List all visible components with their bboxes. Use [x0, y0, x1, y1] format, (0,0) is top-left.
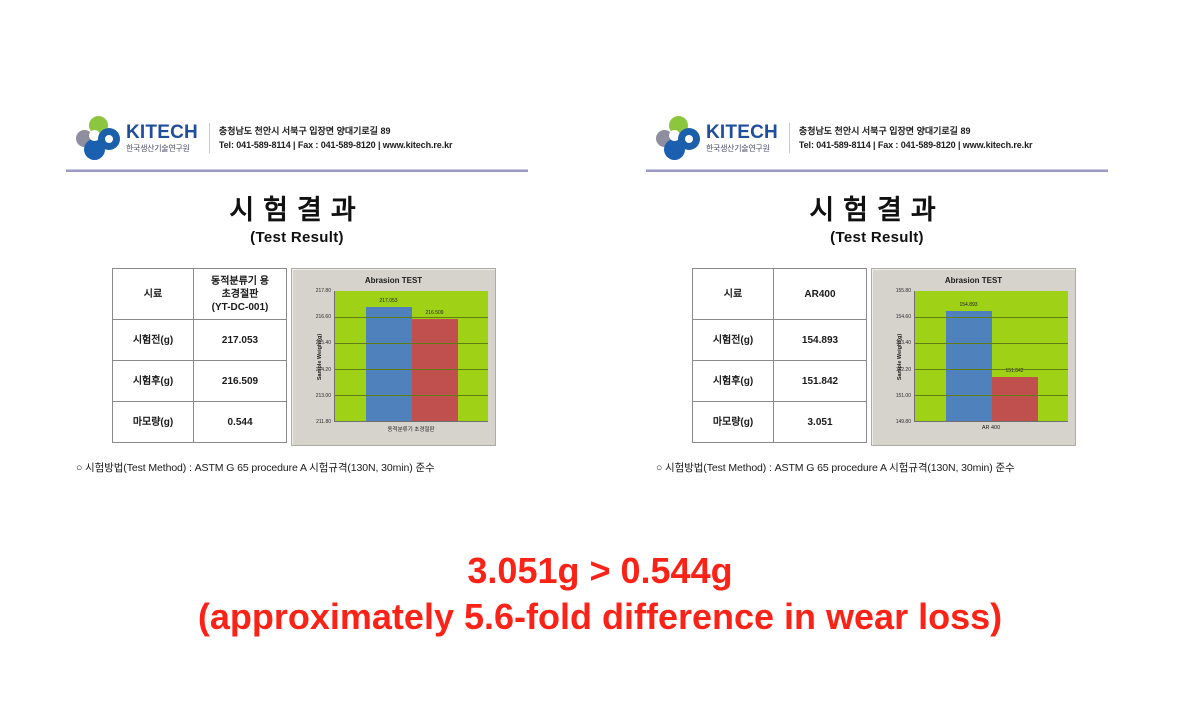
abrasion-chart-right: Abrasion TEST Sample Weight(g) 155.80154…	[871, 268, 1076, 446]
row-label: 시험전(g)	[113, 320, 194, 361]
row-value: 154.893	[774, 320, 867, 361]
row-value: 동적분류기 용초경절판(YT-DC-001)	[194, 269, 287, 320]
result-table-body: 시료 동적분류기 용초경절판(YT-DC-001) 시험전(g) 217.053…	[113, 269, 287, 443]
result-table: 시료 AR400 시험전(g) 154.893 시험후(g) 151.842 마…	[692, 268, 867, 443]
kitech-logo-icon	[76, 116, 122, 160]
title-block: 시험결과 (Test Result)	[62, 194, 532, 246]
y-tick-label: 216.60	[316, 314, 331, 320]
chart-gridline	[915, 343, 1068, 344]
y-tick-label: 153.40	[896, 340, 911, 346]
letterhead: KITECH 한국생산기술연구원 충청남도 천안시 서북구 입장면 양대기로길 …	[642, 112, 1112, 164]
chart-title: Abrasion TEST	[292, 276, 495, 285]
row-value: 0.544	[194, 402, 287, 443]
chart-x-label: AR 400	[914, 425, 1068, 431]
slide-canvas: KITECH 한국생산기술연구원 충청남도 천안시 서북구 입장면 양대기로길 …	[0, 0, 1200, 705]
letterhead: KITECH 한국생산기술연구원 충청남도 천안시 서북구 입장면 양대기로길 …	[62, 112, 532, 164]
bar-data-label: 154.893	[959, 302, 977, 308]
caption-line-1: 3.051g > 0.544g	[0, 548, 1200, 594]
row-value: 216.509	[194, 361, 287, 402]
test-method-footnote: ○ 시험방법(Test Method) : ASTM G 65 procedur…	[642, 460, 1112, 475]
page-title-en: (Test Result)	[642, 229, 1112, 246]
y-tick-label: 155.80	[896, 288, 911, 294]
chart-x-label: 동적분류기 초경절판	[334, 425, 488, 433]
y-tick-label: 154.60	[896, 314, 911, 320]
letterhead-rule	[66, 169, 528, 172]
chart-bars: 154.893151.842	[915, 291, 1068, 421]
bar-data-label: 216.509	[425, 310, 443, 316]
chart-gridline	[915, 395, 1068, 396]
report-card-left: KITECH 한국생산기술연구원 충청남도 천안시 서북구 입장면 양대기로길 …	[62, 112, 532, 512]
logo-name-kr: 한국생산기술연구원	[706, 143, 778, 154]
table-row: 마모량(g) 3.051	[693, 402, 867, 443]
title-block: 시험결과 (Test Result)	[642, 194, 1112, 246]
y-tick-label: 214.20	[316, 367, 331, 373]
result-row: 시료 동적분류기 용초경절판(YT-DC-001) 시험전(g) 217.053…	[62, 268, 532, 446]
test-method-footnote: ○ 시험방법(Test Method) : ASTM G 65 procedur…	[62, 460, 532, 475]
address-line: 충청남도 천안시 서북구 입장면 양대기로길 89	[219, 124, 452, 138]
chart-bar: 154.893	[946, 311, 992, 421]
result-table: 시료 동적분류기 용초경절판(YT-DC-001) 시험전(g) 217.053…	[112, 268, 287, 443]
chart-bar: 217.053	[366, 307, 412, 421]
table-row: 시료 AR400	[693, 269, 867, 320]
row-label: 시료	[693, 269, 774, 320]
letterhead-rule	[646, 169, 1108, 172]
contact-line: Tel: 041-589-8114 | Fax : 041-589-8120 |…	[219, 138, 452, 152]
letterhead-contact: 충청남도 천안시 서북구 입장면 양대기로길 89 Tel: 041-589-8…	[219, 124, 452, 152]
report-card-right: KITECH 한국생산기술연구원 충청남도 천안시 서북구 입장면 양대기로길 …	[642, 112, 1112, 512]
y-tick-label: 217.80	[316, 288, 331, 294]
address-line: 충청남도 천안시 서북구 입장면 양대기로길 89	[799, 124, 1032, 138]
result-table-body: 시료 AR400 시험전(g) 154.893 시험후(g) 151.842 마…	[693, 269, 867, 443]
chart-plot-area: 154.893151.842	[914, 291, 1068, 422]
row-value: AR400	[774, 269, 867, 320]
contact-line: Tel: 041-589-8114 | Fax : 041-589-8120 |…	[799, 138, 1032, 152]
chart-gridline	[335, 395, 488, 396]
chart-gridline	[915, 317, 1068, 318]
abrasion-chart-left: Abrasion TEST Sample Weight(g) 217.80216…	[291, 268, 496, 446]
row-label: 마모량(g)	[693, 402, 774, 443]
row-label: 시료	[113, 269, 194, 320]
bar-data-label: 217.053	[379, 298, 397, 304]
letterhead-contact: 충청남도 천안시 서북구 입장면 양대기로길 89 Tel: 041-589-8…	[799, 124, 1032, 152]
row-label: 시험후(g)	[693, 361, 774, 402]
chart-bars: 217.053216.509	[335, 291, 488, 421]
row-value: 217.053	[194, 320, 287, 361]
row-label: 시험전(g)	[693, 320, 774, 361]
caption-line-2: (approximately 5.6-fold difference in we…	[0, 594, 1200, 640]
y-tick-label: 215.40	[316, 340, 331, 346]
page-title-en: (Test Result)	[62, 229, 532, 246]
table-row: 시험후(g) 151.842	[693, 361, 867, 402]
logo-wordmark: KITECH 한국생산기술연구원	[706, 123, 778, 154]
logo-name-en: KITECH	[706, 123, 778, 142]
table-row: 시료 동적분류기 용초경절판(YT-DC-001)	[113, 269, 287, 320]
y-tick-label: 152.20	[896, 367, 911, 373]
kitech-logo-icon	[656, 116, 702, 160]
logo-name-kr: 한국생산기술연구원	[126, 143, 198, 154]
letterhead-divider	[209, 123, 210, 153]
row-value: 3.051	[774, 402, 867, 443]
table-row: 시험후(g) 216.509	[113, 361, 287, 402]
y-tick-label: 151.00	[896, 393, 911, 399]
chart-gridline	[335, 343, 488, 344]
chart-y-ticks: 155.80154.60153.40152.20151.00149.80	[885, 291, 911, 422]
chart-bar: 151.842	[992, 377, 1038, 421]
chart-plot-area: 217.053216.509	[334, 291, 488, 422]
chart-gridline	[335, 317, 488, 318]
table-row: 시험전(g) 154.893	[693, 320, 867, 361]
chart-gridline	[915, 369, 1068, 370]
table-row: 시험전(g) 217.053	[113, 320, 287, 361]
table-row: 마모량(g) 0.544	[113, 402, 287, 443]
letterhead-divider	[789, 123, 790, 153]
row-label: 마모량(g)	[113, 402, 194, 443]
y-tick-label: 213.00	[316, 393, 331, 399]
chart-title: Abrasion TEST	[872, 276, 1075, 285]
chart-y-ticks: 217.80216.60215.40214.20213.00211.80	[305, 291, 331, 422]
y-tick-label: 149.80	[896, 419, 911, 425]
y-tick-label: 211.80	[316, 419, 331, 425]
result-row: 시료 AR400 시험전(g) 154.893 시험후(g) 151.842 마…	[642, 268, 1112, 446]
row-label: 시험후(g)	[113, 361, 194, 402]
row-value: 151.842	[774, 361, 867, 402]
logo-wordmark: KITECH 한국생산기술연구원	[126, 123, 198, 154]
chart-gridline	[335, 369, 488, 370]
page-title-kr: 시험결과	[642, 194, 1112, 226]
logo-name-en: KITECH	[126, 123, 198, 142]
page-title-kr: 시험결과	[62, 194, 532, 226]
summary-caption: 3.051g > 0.544g (approximately 5.6-fold …	[0, 548, 1200, 640]
